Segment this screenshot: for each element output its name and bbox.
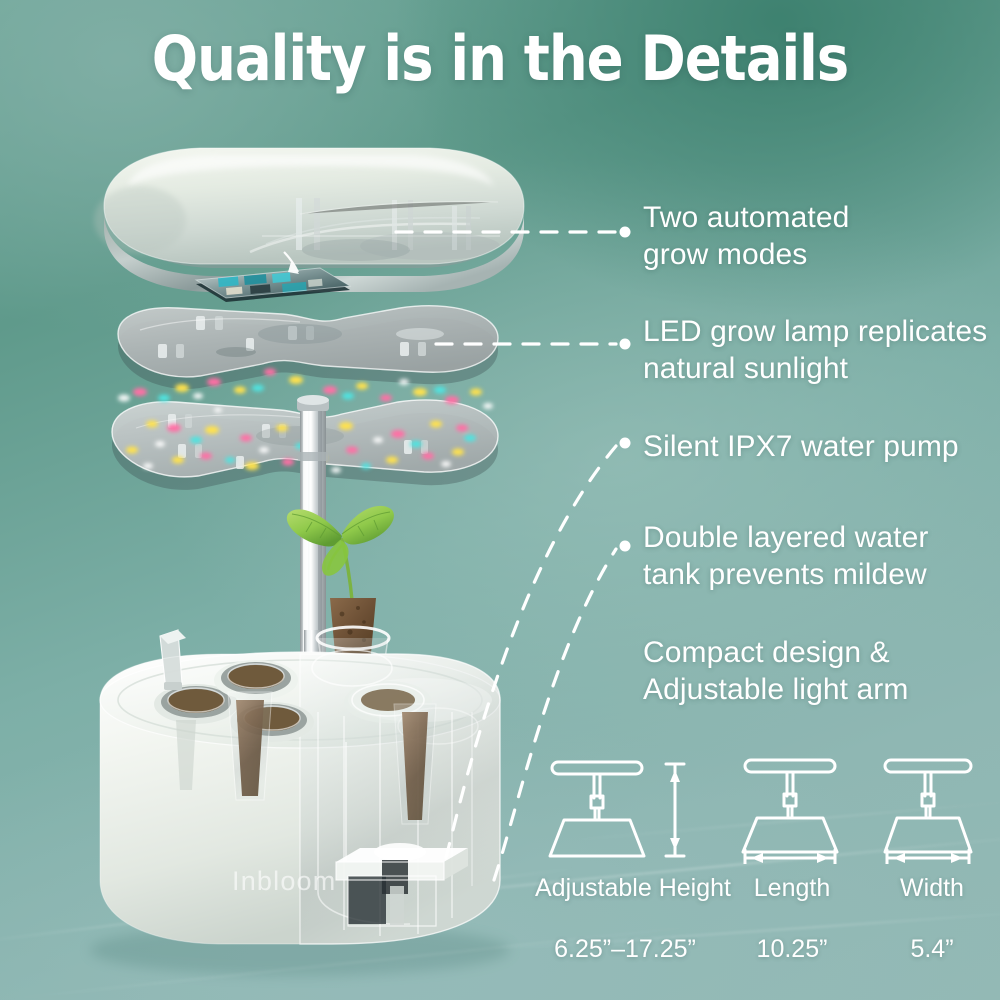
feature-label-water-tank: Double layered water tank prevents milde… [643,519,929,593]
feature-label-led-lamp: LED grow lamp replicates natural sunligh… [643,313,987,387]
dimension-name: Adjustable Height [535,874,715,903]
dimension-name: Length [722,874,862,903]
infographic-canvas: Quality is in the Details [0,0,1000,1000]
dimension-name: Width [872,874,992,903]
lamp-width-icon [872,752,992,864]
dimension-value: 10.25” [722,935,862,964]
lamp-length-icon [722,752,862,864]
feature-label-water-pump: Silent IPX7 water pump [643,428,959,465]
part-control-board [196,268,350,302]
product-exploded-illustration: Inbloom [0,0,620,1000]
dimension-value: 6.25”–17.25” [535,935,715,964]
dimension-length: Length 10.25” [722,752,862,964]
feature-label-grow-modes: Two automated grow modes [643,199,849,273]
part-base-tank: Inbloom [90,630,510,976]
dimension-width: Width 5.4” [872,752,992,964]
feature-label-compact-design: Compact design & Adjustable light arm [643,634,908,708]
dimension-adjustable-height: Adjustable Height 6.25”–17.25” [535,752,715,964]
lamp-height-icon [535,752,715,864]
brand-logo: Inbloom [232,866,336,896]
dimension-value: 5.4” [872,935,992,964]
part-upper-panel [118,306,498,389]
